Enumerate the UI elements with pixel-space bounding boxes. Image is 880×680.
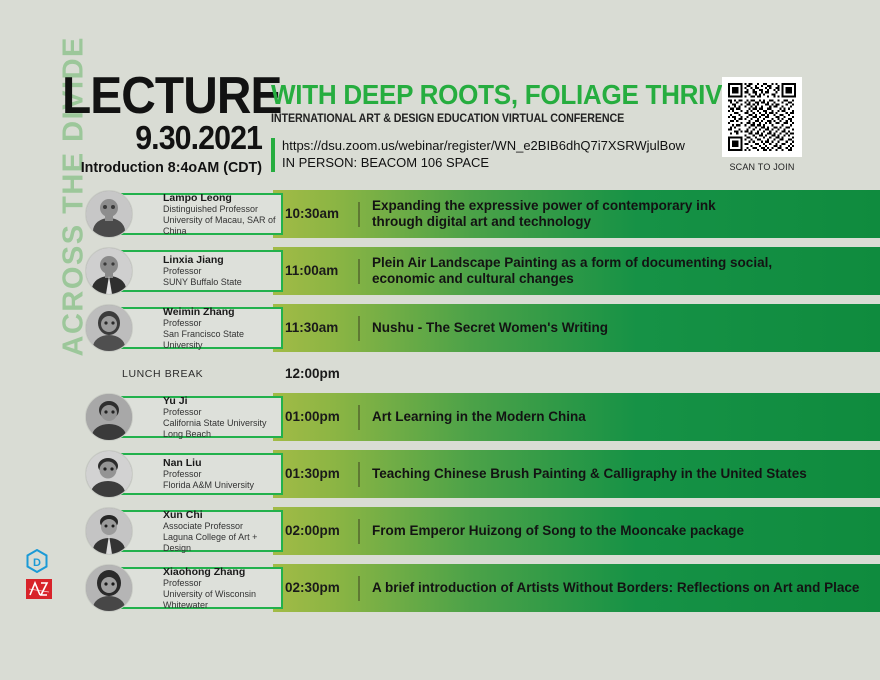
speaker-name: Xun Chi (163, 509, 281, 521)
session-title-line1: A brief introduction of Artists Without … (372, 580, 868, 596)
session-title-line1: Plein Air Landscape Painting as a form o… (372, 255, 868, 271)
page-title: WITH DEEP ROOTS, FOLIAGE THRIVES (271, 80, 671, 109)
lecture-date: 9.30.2021 (78, 120, 262, 156)
row-divider (358, 519, 360, 544)
speaker-card: Yu Ji Professor California State Univers… (113, 396, 283, 438)
speaker-role: Professor (163, 407, 281, 418)
session-time: 01:00pm (285, 393, 363, 441)
lunch-break-time: 12:00pm (285, 361, 340, 387)
speaker-org: Laguna College of Art + Design (163, 532, 281, 554)
qr-code-block[interactable]: SCAN TO JOIN (722, 77, 802, 172)
avatar (85, 190, 133, 238)
speaker-card: Linxia Jiang Professor SUNY Buffalo Stat… (113, 250, 283, 292)
speaker-role: Distinguished Professor (163, 204, 281, 215)
session-title-line1: Expanding the expressive power of contem… (372, 198, 868, 214)
qr-code-icon[interactable] (722, 77, 802, 157)
speaker-org: University of Macau, SAR of China (163, 215, 281, 237)
lecture-heading-block: LECTURE 9.30.2021 Introduction 8:4oAM (C… (62, 72, 262, 178)
speaker-role: Professor (163, 266, 281, 277)
schedule-row[interactable]: 02:30pm A brief introduction of Artists … (85, 564, 880, 612)
session-time: 11:00am (285, 247, 363, 295)
green-accent-bar (271, 138, 275, 172)
row-divider (358, 405, 360, 430)
speaker-name: Linxia Jiang (163, 254, 281, 266)
session-title: Expanding the expressive power of contem… (372, 190, 868, 238)
qr-caption: SCAN TO JOIN (722, 162, 802, 172)
headline-block: WITH DEEP ROOTS, FOLIAGE THRIVES INTERNA… (271, 80, 701, 171)
schedule-list: 10:30am Expanding the expressive power o… (85, 190, 880, 621)
dsu-d-logo-icon: D (26, 549, 48, 573)
registration-info: https://dsu.zoom.us/webinar/register/WN_… (271, 137, 701, 171)
speaker-name: Yu Ji (163, 395, 281, 407)
lecture-intro-time: Introduction 8:4oAM (CDT) (72, 158, 262, 178)
speaker-card: Nan Liu Professor Florida A&M University (113, 453, 283, 495)
lunch-break-label: LUNCH BREAK (122, 361, 203, 387)
session-title: Plein Air Landscape Painting as a form o… (372, 247, 868, 295)
row-divider (358, 316, 360, 341)
svg-text:D: D (33, 557, 41, 569)
schedule-row[interactable]: 10:30am Expanding the expressive power o… (85, 190, 880, 238)
session-time: 02:00pm (285, 507, 363, 555)
speaker-role: Professor (163, 578, 281, 589)
avatar (85, 564, 133, 612)
session-title: Teaching Chinese Brush Painting & Callig… (372, 450, 868, 498)
speaker-org: San Francisco State University (163, 329, 281, 351)
row-divider (358, 576, 360, 601)
page-subtitle: INTERNATIONAL ART & DESIGN EDUCATION VIR… (271, 112, 671, 126)
speaker-card: Xiaohong Zhang Professor University of W… (113, 567, 283, 609)
session-title-line1: Nushu - The Secret Women's Writing (372, 320, 868, 336)
avatar (85, 507, 133, 555)
session-time: 10:30am (285, 190, 363, 238)
row-divider (358, 462, 360, 487)
logo-group: D (26, 549, 52, 599)
speaker-name: Weimin Zhang (163, 306, 281, 318)
session-time: 02:30pm (285, 564, 363, 612)
session-title: A brief introduction of Artists Without … (372, 564, 868, 612)
in-person-location: IN PERSON: BEACOM 106 SPACE (282, 154, 701, 171)
registration-link[interactable]: https://dsu.zoom.us/webinar/register/WN_… (282, 137, 701, 154)
session-title: Art Learning in the Modern China (372, 393, 868, 441)
speaker-org: SUNY Buffalo State (163, 277, 281, 288)
qr-code-svg (728, 83, 796, 151)
session-title: From Emperor Huizong of Song to the Moon… (372, 507, 868, 555)
speaker-org: California State University Long Beach (163, 418, 281, 440)
speaker-org: Florida A&M University (163, 480, 281, 491)
session-title-line2: through digital art and technology (372, 214, 868, 230)
row-divider (358, 202, 360, 227)
speaker-org: University of Wisconsin Whitewater (163, 589, 281, 611)
lecture-word: LECTURE (62, 72, 246, 120)
speaker-name: Xiaohong Zhang (163, 566, 281, 578)
speaker-card: Lampo Leong Distinguished Professor Univ… (113, 193, 283, 235)
avatar (85, 304, 133, 352)
session-title-line1: Art Learning in the Modern China (372, 409, 868, 425)
speaker-card: Xun Chi Associate Professor Laguna Colle… (113, 510, 283, 552)
session-time: 11:30am (285, 304, 363, 352)
speaker-card: Weimin Zhang Professor San Francisco Sta… (113, 307, 283, 349)
conference-poster: ACROSS THE DIVIDE LECTURE 9.30.2021 Intr… (0, 0, 880, 680)
schedule-row[interactable]: 11:00am Plein Air Landscape Painting as … (85, 247, 880, 295)
session-title: Nushu - The Secret Women's Writing (372, 304, 868, 352)
speaker-role: Professor (163, 469, 281, 480)
avatar (85, 450, 133, 498)
session-title-line1: From Emperor Huizong of Song to the Moon… (372, 523, 868, 539)
lunch-break-row: LUNCH BREAK 12:00pm (85, 361, 880, 387)
partner-red-logo-icon (26, 579, 52, 599)
speaker-name: Nan Liu (163, 457, 281, 469)
speaker-name: Lampo Leong (163, 192, 281, 204)
speaker-role: Professor (163, 318, 281, 329)
speaker-role: Associate Professor (163, 521, 281, 532)
avatar (85, 393, 133, 441)
row-divider (358, 259, 360, 284)
schedule-row[interactable]: 01:30pm Teaching Chinese Brush Painting … (85, 450, 880, 498)
avatar (85, 247, 133, 295)
schedule-row[interactable]: 02:00pm From Emperor Huizong of Song to … (85, 507, 880, 555)
session-title-line2: economic and cultural changes (372, 271, 868, 287)
schedule-row[interactable]: 01:00pm Art Learning in the Modern China… (85, 393, 880, 441)
schedule-row[interactable]: 11:30am Nushu - The Secret Women's Writi… (85, 304, 880, 352)
session-title-line1: Teaching Chinese Brush Painting & Callig… (372, 466, 868, 482)
session-time: 01:30pm (285, 450, 363, 498)
